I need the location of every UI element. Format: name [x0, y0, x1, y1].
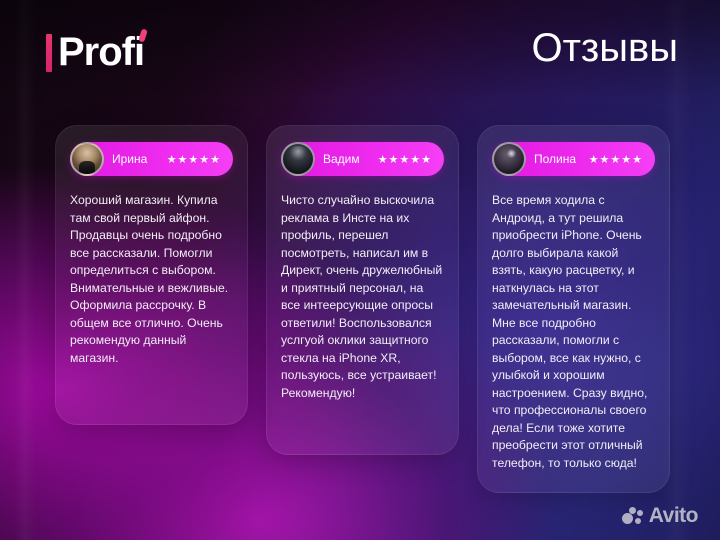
- reviewer-badge: Вадим ★★★★★: [281, 142, 444, 176]
- reviewer-badge: Полина ★★★★★: [492, 142, 655, 176]
- slide-canvas: Profi Отзывы Ирина ★★★★★ Хороший магазин…: [0, 0, 720, 540]
- reviews-list: Ирина ★★★★★ Хороший магазин. Купила там …: [55, 125, 670, 493]
- review-text: Хороший магазин. Купила там свой первый …: [70, 192, 233, 367]
- review-text: Все время ходила с Андроид, а тут решила…: [492, 192, 655, 472]
- avito-logo-icon: [622, 507, 644, 525]
- review-text: Чисто случайно выскочила реклама в Инсте…: [281, 192, 444, 402]
- review-card: Полина ★★★★★ Все время ходила с Андроид,…: [477, 125, 670, 493]
- logo-bar-icon: [46, 34, 52, 72]
- reviewer-name: Полина: [534, 152, 576, 166]
- reviewer-badge: Ирина ★★★★★: [70, 142, 233, 176]
- rating-stars: ★★★★★: [157, 153, 221, 166]
- review-card: Вадим ★★★★★ Чисто случайно выскочила рек…: [266, 125, 459, 455]
- logo-text: Profi: [58, 32, 144, 72]
- reviewer-name: Ирина: [112, 152, 147, 166]
- rating-stars: ★★★★★: [579, 153, 643, 166]
- header: Profi Отзывы: [0, 0, 720, 110]
- brand-logo: Profi: [46, 32, 144, 72]
- rating-stars: ★★★★★: [368, 153, 432, 166]
- avatar: [70, 142, 104, 176]
- avito-wordmark: Avito: [649, 505, 698, 526]
- review-card: Ирина ★★★★★ Хороший магазин. Купила там …: [55, 125, 248, 425]
- avito-watermark: Avito: [622, 505, 698, 526]
- avatar: [281, 142, 315, 176]
- page-title: Отзывы: [531, 26, 678, 71]
- avatar: [492, 142, 526, 176]
- reviewer-name: Вадим: [323, 152, 360, 166]
